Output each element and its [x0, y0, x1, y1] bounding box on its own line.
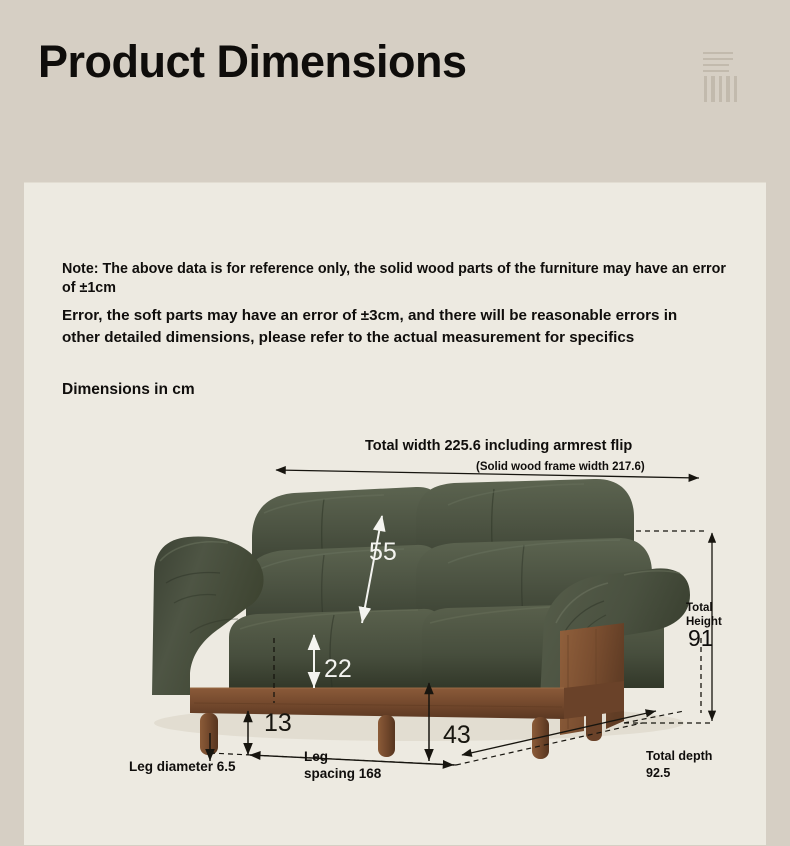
label-total-height-value: 91 — [688, 631, 722, 645]
label-total-depth-value: 92.5 — [646, 766, 670, 780]
deco-hline — [703, 64, 729, 66]
deco-vline — [726, 76, 729, 102]
label-frame-width: (Solid wood frame width 217.6) — [476, 461, 645, 473]
page-header: Product Dimensions — [0, 0, 790, 182]
deco-vline — [711, 76, 714, 102]
deco-hline — [703, 58, 733, 60]
dimensions-panel: Note: The above data is for reference on… — [24, 182, 766, 845]
label-total-depth: Total depth 92.5 — [646, 748, 712, 782]
label-leg-height: 13 — [264, 709, 292, 738]
label-total-width: Total width 225.6 including armrest flip — [365, 438, 632, 454]
label-seat-cushion-height: 22 — [324, 655, 352, 684]
deco-vbars — [704, 76, 737, 102]
label-leg-spacing: Leg spacing 168 — [304, 748, 381, 782]
deco-hline — [703, 52, 733, 54]
label-total-height: Total Height 91 — [686, 601, 722, 645]
deco-vline — [719, 76, 722, 102]
label-total-depth-caption: Total depth — [646, 749, 712, 763]
label-backrest-height: 55 — [369, 538, 397, 567]
deco-hline — [703, 70, 729, 72]
sofa-leg — [200, 713, 218, 755]
deco-vline — [704, 76, 707, 102]
page-title: Product Dimensions — [38, 36, 467, 88]
label-seat-height: 43 — [443, 721, 471, 750]
column-lines-icon — [703, 52, 737, 104]
sofa-illustration — [152, 479, 690, 759]
label-total-height-cap1: Total — [686, 602, 713, 614]
label-leg-diameter: Leg diameter 6.5 — [129, 759, 236, 774]
label-leg-spacing-value: spacing 168 — [304, 766, 381, 781]
label-leg-spacing-caption: Leg — [304, 749, 328, 764]
sofa-dimension-diagram: Total width 225.6 including armrest flip… — [24, 183, 766, 846]
deco-vline — [734, 76, 737, 102]
